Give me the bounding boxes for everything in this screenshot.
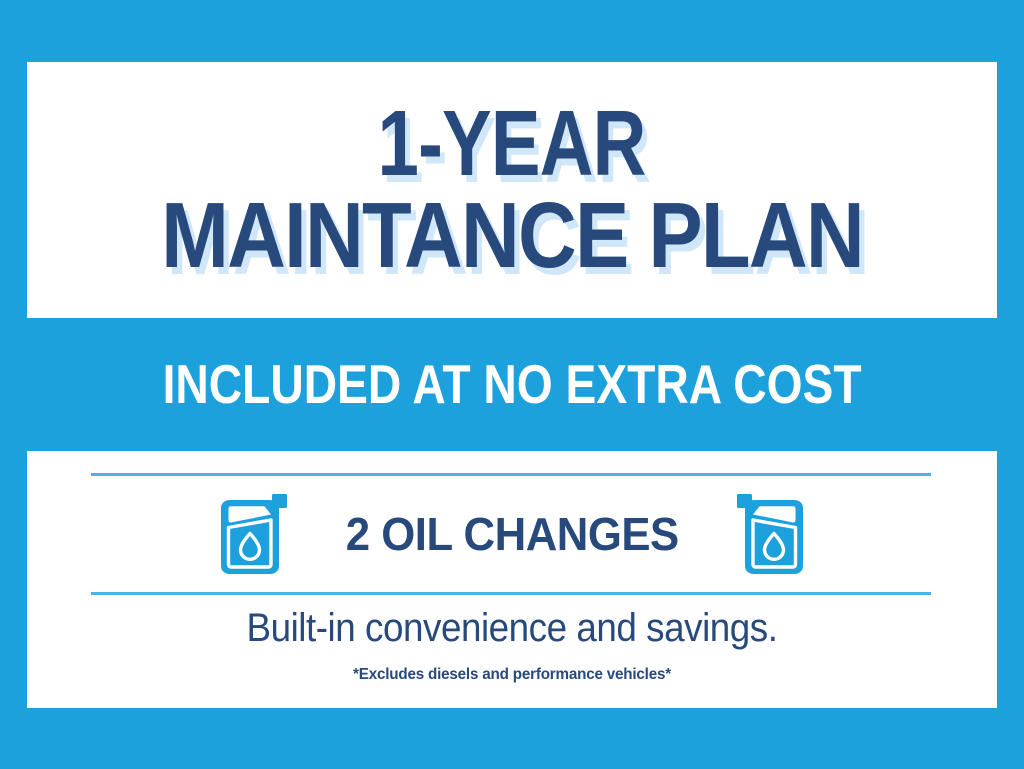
oil-jug-icon-left xyxy=(217,492,289,576)
subtitle-band: INCLUDED AT NO EXTRA COST xyxy=(27,318,997,451)
benefit-label: 2 OIL CHANGES xyxy=(346,511,679,557)
divider-bottom xyxy=(91,592,931,595)
maintenance-plan-poster: 1-YEAR MAINTANCE PLAN INCLUDED AT NO EXT… xyxy=(0,0,1024,769)
headline-line-1: 1-YEAR xyxy=(378,101,646,187)
headline-line-2: MAINTANCE PLAN xyxy=(161,193,863,279)
benefit-row: 2 OIL CHANGES xyxy=(27,475,997,592)
detail-card: 2 OIL CHANGES Built-in convenience and s… xyxy=(27,451,997,708)
subtitle-text: INCLUDED AT NO EXTRA COST xyxy=(163,357,862,412)
headline-card: 1-YEAR MAINTANCE PLAN xyxy=(27,62,997,318)
tagline-text: Built-in convenience and savings. xyxy=(66,606,958,650)
fineprint-text: *Excludes diesels and performance vehicl… xyxy=(51,667,973,683)
oil-jug-icon-right xyxy=(735,492,807,576)
